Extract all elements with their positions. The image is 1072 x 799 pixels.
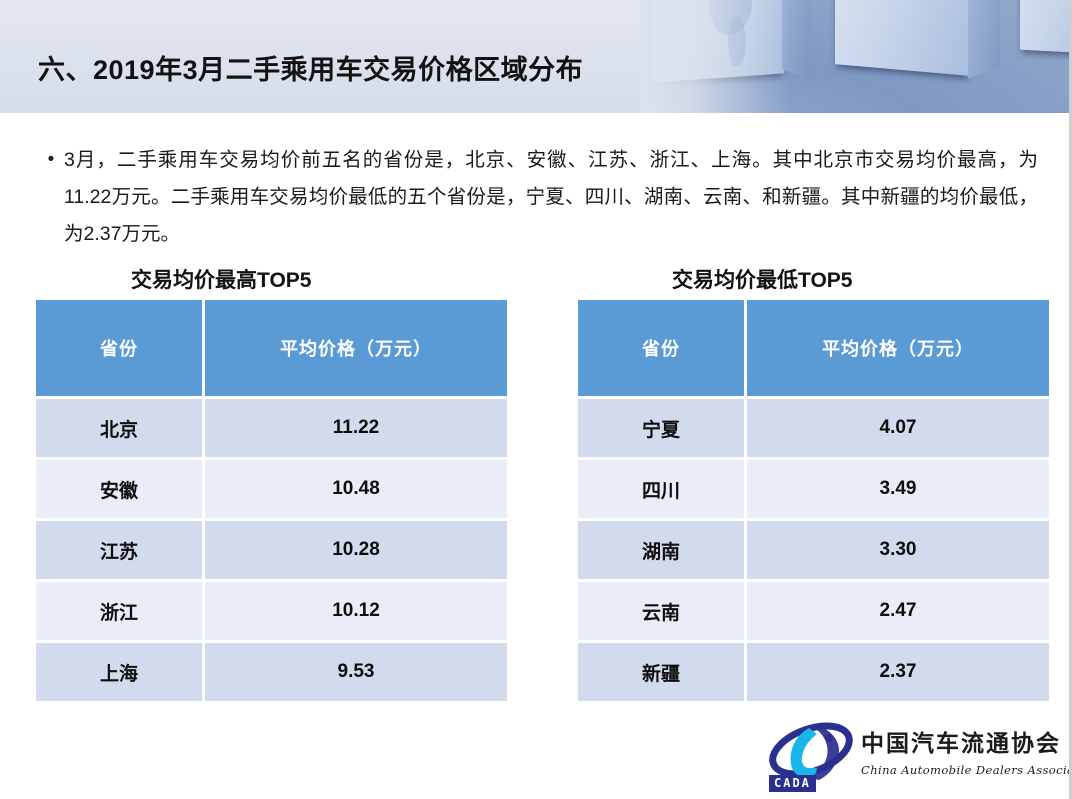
table-row: 湖南 3.30 [578,521,1049,579]
cell-province: 上海 [36,643,202,701]
table-row: 江苏 10.28 [36,521,507,579]
decorative-cubes-image [640,0,1072,113]
cell-province: 湖南 [578,521,744,579]
cell-province: 云南 [578,582,744,640]
title-band: 六、2019年3月二手乘用车交易价格区域分布 [0,0,1072,113]
cell-province: 新疆 [578,643,744,701]
cell-price: 3.30 [747,521,1049,579]
slide: 六、2019年3月二手乘用车交易价格区域分布 • 3月，二手乘用车交易均价前五名… [0,0,1072,799]
table-row: 安徽 10.48 [36,460,507,518]
column-header-avg-price: 平均价格（万元） [205,300,507,396]
logo-name-cn: 中国汽车流通协会 [861,724,1057,758]
cell-price: 10.12 [205,582,507,640]
bullet-marker-icon: • [38,142,64,178]
cell-province: 浙江 [36,582,202,640]
page-title: 六、2019年3月二手乘用车交易价格区域分布 [38,48,583,87]
cell-province: 宁夏 [578,399,744,457]
decorative-fade-overlay [640,0,790,113]
table-row: 四川 3.49 [578,460,1049,518]
cada-badge: CADA [769,775,816,792]
table-caption-lowest: 交易均价最低TOP5 [672,264,852,294]
cell-province: 江苏 [36,521,202,579]
cada-logo: CADA 中国汽车流通协会 China Automobile Dealers A… [765,722,1055,792]
cell-province: 四川 [578,460,744,518]
logo-wordmark: 中国汽车流通协会 China Automobile Dealers Associ… [861,724,1057,777]
cell-price: 2.37 [747,643,1049,701]
column-header-avg-price: 平均价格（万元） [747,300,1049,396]
table-header-row: 省份 平均价格（万元） [578,300,1049,396]
table-highest-top5: 省份 平均价格（万元） 北京 11.22 安徽 10.48 江苏 10.28 浙… [33,297,510,704]
cell-price: 10.28 [205,521,507,579]
logo-name-en: China Automobile Dealers Association [861,763,1057,777]
table-row: 上海 9.53 [36,643,507,701]
table-row: 云南 2.47 [578,582,1049,640]
table-row: 新疆 2.37 [578,643,1049,701]
cell-price: 11.22 [205,399,507,457]
cube-shape-2 [835,0,970,76]
cell-price: 9.53 [205,643,507,701]
table-header-row: 省份 平均价格（万元） [36,300,507,396]
cube-shape-3 [1020,0,1072,54]
cell-province: 安徽 [36,460,202,518]
table-lowest-top5: 省份 平均价格（万元） 宁夏 4.07 四川 3.49 湖南 3.30 云南 2… [575,297,1052,704]
cell-province: 北京 [36,399,202,457]
table-row: 浙江 10.12 [36,582,507,640]
cell-price: 2.47 [747,582,1049,640]
column-header-province: 省份 [578,300,744,396]
table-row: 北京 11.22 [36,399,507,457]
column-header-province: 省份 [36,300,202,396]
cell-price: 3.49 [747,460,1049,518]
cell-price: 10.48 [205,460,507,518]
body-bullet-item: • 3月，二手乘用车交易均价前五名的省份是，北京、安徽、江苏、浙江、上海。其中北… [38,142,1038,253]
table-caption-highest: 交易均价最高TOP5 [131,264,311,294]
cell-price: 4.07 [747,399,1049,457]
table-row: 宁夏 4.07 [578,399,1049,457]
body-paragraph: 3月，二手乘用车交易均价前五名的省份是，北京、安徽、江苏、浙江、上海。其中北京市… [64,142,1038,253]
